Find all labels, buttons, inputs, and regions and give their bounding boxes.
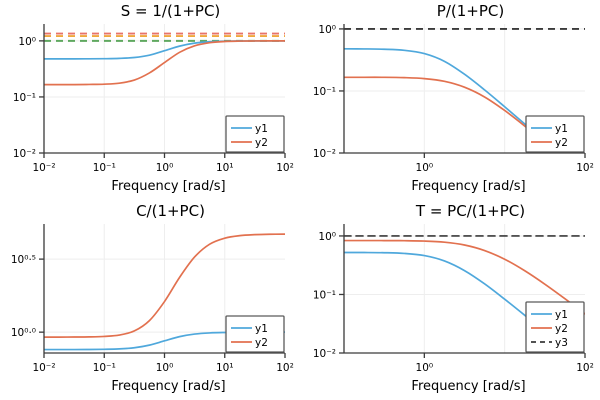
x-axis-label: Frequency [rad/s] bbox=[411, 379, 525, 394]
y-tick-label: 10⁻¹ bbox=[313, 289, 336, 301]
x-tick-label: 10⁰ bbox=[416, 162, 434, 174]
chart-panel-bottom-right: T = PC/(1+PC)10⁰10⁻¹10⁻²10⁰10²Frequency … bbox=[300, 200, 600, 400]
x-tick-label: 10⁰ bbox=[416, 362, 434, 374]
x-tick-label: 10² bbox=[276, 362, 294, 374]
curve-y1 bbox=[344, 49, 585, 177]
legend-label-y1: y1 bbox=[255, 123, 268, 135]
y-tick-label: 10⁰·⁰ bbox=[11, 327, 36, 339]
y-tick-label: 10⁻¹ bbox=[313, 86, 336, 98]
x-axis-label: Frequency [rad/s] bbox=[111, 379, 225, 394]
chart-panel-top-right: P/(1+PC)10⁰10⁻¹10⁻²10⁰10²Frequency [rad/… bbox=[300, 0, 600, 200]
x-axis-label: Frequency [rad/s] bbox=[411, 179, 525, 194]
legend-label-y3: y3 bbox=[555, 337, 568, 349]
figure-grid: S = 1/(1+PC)10⁰10⁻¹10⁻²10⁻²10⁻¹10⁰10¹10²… bbox=[0, 0, 600, 400]
chart-panel-bottom-left: C/(1+PC)10⁰·⁵10⁰·⁰10⁻²10⁻¹10⁰10¹10²Frequ… bbox=[0, 200, 300, 400]
x-tick-label: 10⁰ bbox=[156, 162, 174, 174]
x-tick-label: 10² bbox=[576, 362, 594, 374]
panel-title: T = PC/(1+PC) bbox=[415, 202, 525, 220]
y-tick-label: 10⁻¹ bbox=[13, 92, 36, 104]
legend-label-y2: y2 bbox=[555, 323, 568, 335]
legend-label-y2: y2 bbox=[555, 137, 568, 149]
legend-label-y2: y2 bbox=[255, 137, 268, 149]
x-tick-label: 10¹ bbox=[216, 162, 234, 174]
panel-title: S = 1/(1+PC) bbox=[121, 2, 221, 20]
x-tick-label: 10⁻² bbox=[32, 362, 55, 374]
legend-label-y1: y1 bbox=[255, 323, 268, 335]
y-tick-label: 10⁰ bbox=[318, 24, 336, 36]
y-tick-label: 10⁰·⁵ bbox=[11, 254, 36, 266]
x-tick-label: 10⁻² bbox=[32, 162, 55, 174]
legend-label-y1: y1 bbox=[555, 123, 568, 135]
y-tick-label: 10⁻² bbox=[313, 348, 336, 360]
legend-label-y1: y1 bbox=[555, 309, 568, 321]
y-tick-label: 10⁻² bbox=[313, 148, 336, 160]
y-tick-label: 10⁰ bbox=[18, 36, 36, 48]
y-tick-label: 10⁰ bbox=[318, 231, 336, 243]
legend-label-y2: y2 bbox=[255, 337, 268, 349]
x-tick-label: 10¹ bbox=[216, 362, 234, 374]
panel-title: P/(1+PC) bbox=[437, 2, 504, 20]
x-tick-label: 10⁻¹ bbox=[93, 362, 116, 374]
x-tick-label: 10² bbox=[276, 162, 294, 174]
x-axis-label: Frequency [rad/s] bbox=[111, 179, 225, 194]
panel-title: C/(1+PC) bbox=[136, 202, 205, 220]
y-tick-label: 10⁻² bbox=[13, 148, 36, 160]
chart-panel-top-left: S = 1/(1+PC)10⁰10⁻¹10⁻²10⁻²10⁻¹10⁰10¹10²… bbox=[0, 0, 300, 200]
x-tick-label: 10⁰ bbox=[156, 362, 174, 374]
x-tick-label: 10² bbox=[576, 162, 594, 174]
x-tick-label: 10⁻¹ bbox=[93, 162, 116, 174]
